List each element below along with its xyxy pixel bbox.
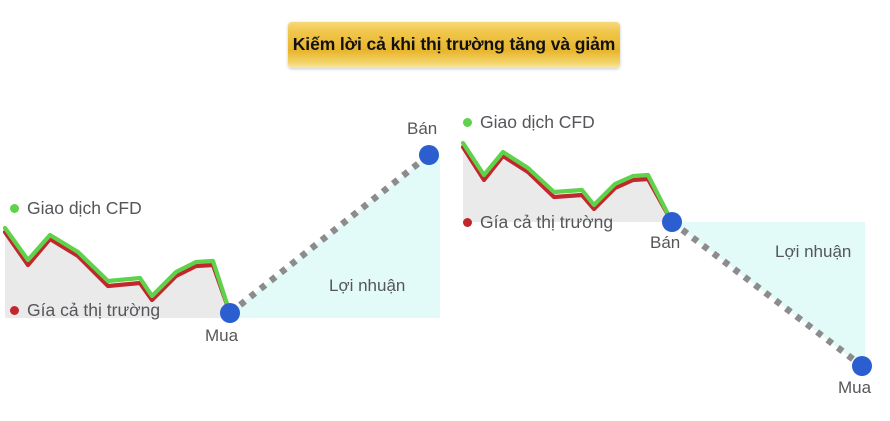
right-legend-market: Gía cả thị trường <box>463 212 613 233</box>
left-sell-label: Bán <box>407 120 437 137</box>
left-buy-label: Mua <box>205 327 238 344</box>
left-legend-market: Gía cả thị trường <box>10 300 160 321</box>
infographic-canvas: Kiếm lời cả khi thị trường tăng và giảm <box>0 0 890 421</box>
left-profit-label: Lợi nhuận <box>329 277 405 294</box>
right-legend-cfd: Giao dịch CFD <box>463 112 595 133</box>
right-price-area-fill <box>463 147 672 222</box>
red-dot-icon <box>463 218 472 227</box>
green-dot-icon <box>10 204 19 213</box>
right-buy-marker-dot <box>852 356 872 376</box>
red-dot-icon <box>10 306 19 315</box>
left-legend-cfd-label: Giao dịch CFD <box>27 198 142 219</box>
green-dot-icon <box>463 118 472 127</box>
left-legend-cfd: Giao dịch CFD <box>10 198 142 219</box>
right-legend-market-label: Gía cả thị trường <box>480 212 613 233</box>
left-legend-market-label: Gía cả thị trường <box>27 300 160 321</box>
right-profit-label: Lợi nhuận <box>775 243 851 260</box>
left-buy-marker-dot <box>220 303 240 323</box>
left-sell-marker-dot <box>419 145 439 165</box>
right-sell-label: Bán <box>650 234 680 251</box>
right-legend-cfd-label: Giao dịch CFD <box>480 112 595 133</box>
right-buy-label: Mua <box>838 379 871 396</box>
right-sell-marker-dot <box>662 212 682 232</box>
